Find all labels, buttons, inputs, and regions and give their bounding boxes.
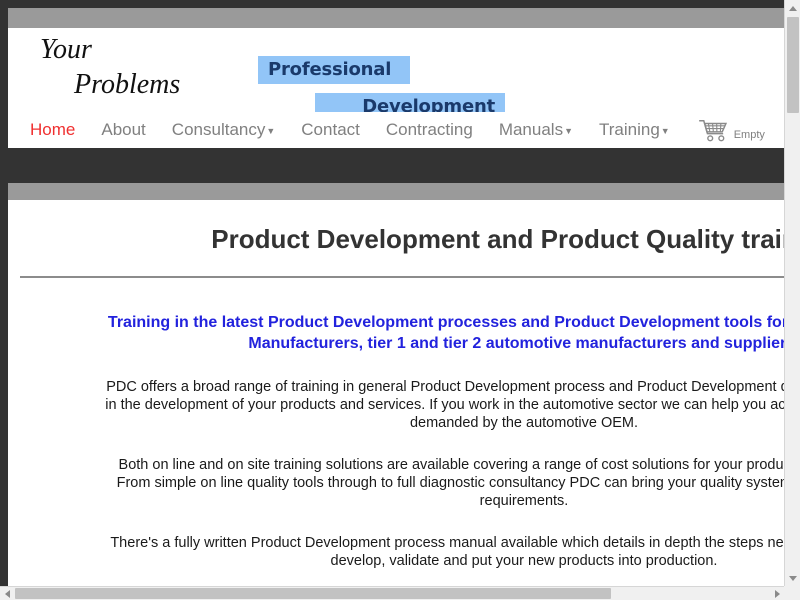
horizontal-scrollbar[interactable] (0, 586, 800, 600)
main-content: Product Development and Product Quality … (8, 200, 800, 586)
nav-item-training[interactable]: Training▼ (599, 120, 670, 140)
title-divider (20, 276, 800, 278)
paragraph-1: PDC offers a broad range of training in … (104, 378, 800, 432)
chevron-down-icon: ▼ (266, 126, 275, 136)
nav-label-contact: Contact (301, 120, 360, 139)
nav-item-contracting[interactable]: Contracting (386, 120, 473, 140)
logo-left-line2: Problems (28, 67, 258, 102)
shopping-cart-icon (698, 118, 728, 142)
vertical-scrollbar[interactable] (784, 0, 800, 586)
scroll-left-arrow-icon[interactable] (0, 587, 14, 600)
paragraph-2: Both on line and on site training soluti… (104, 456, 800, 510)
nav-item-consultancy[interactable]: Consultancy▼ (172, 120, 275, 140)
logo-your-problems: Your Problems (28, 32, 258, 102)
cart-widget[interactable]: Empty (698, 118, 765, 142)
web-page: Your Problems Professional Development C… (0, 0, 800, 586)
chevron-down-icon: ▼ (564, 126, 573, 136)
top-dark-gutter (0, 0, 800, 8)
main-navigation: Home About Consultancy▼ Contact Contract… (8, 112, 800, 148)
mid-gray-band (8, 183, 800, 200)
nav-item-manuals[interactable]: Manuals▼ (499, 120, 573, 140)
horizontal-scrollbar-thumb[interactable] (15, 588, 611, 599)
cart-status-label: Empty (734, 129, 765, 141)
left-dark-gutter (0, 8, 8, 586)
nav-item-contact[interactable]: Contact (301, 120, 360, 140)
page-title: Product Development and Product Quality … (8, 200, 800, 255)
nav-label-training: Training (599, 120, 660, 139)
top-gray-band (8, 8, 800, 28)
nav-label-home: Home (30, 120, 75, 139)
nav-item-home[interactable]: Home (30, 120, 75, 140)
paragraph-3: There's a fully written Product Developm… (104, 534, 800, 570)
nav-label-consultancy: Consultancy (172, 120, 266, 139)
browser-viewport: Your Problems Professional Development C… (0, 0, 800, 600)
chevron-down-icon: ▼ (661, 126, 670, 136)
logo-left-line1: Your (28, 32, 258, 67)
nav-label-about: About (101, 120, 145, 139)
nav-label-contracting: Contracting (386, 120, 473, 139)
mid-dark-gap (0, 148, 800, 183)
nav-label-manuals: Manuals (499, 120, 563, 139)
scroll-right-arrow-icon[interactable] (770, 587, 784, 600)
banner-word-professional: Professional (258, 56, 410, 84)
scroll-down-arrow-icon[interactable] (785, 570, 800, 586)
nav-item-about[interactable]: About (101, 120, 145, 140)
scroll-up-arrow-icon[interactable] (785, 0, 800, 16)
subheading: Training in the latest Product Developme… (52, 312, 800, 354)
vertical-scrollbar-thumb[interactable] (787, 17, 799, 113)
scrollbar-corner (784, 586, 800, 600)
